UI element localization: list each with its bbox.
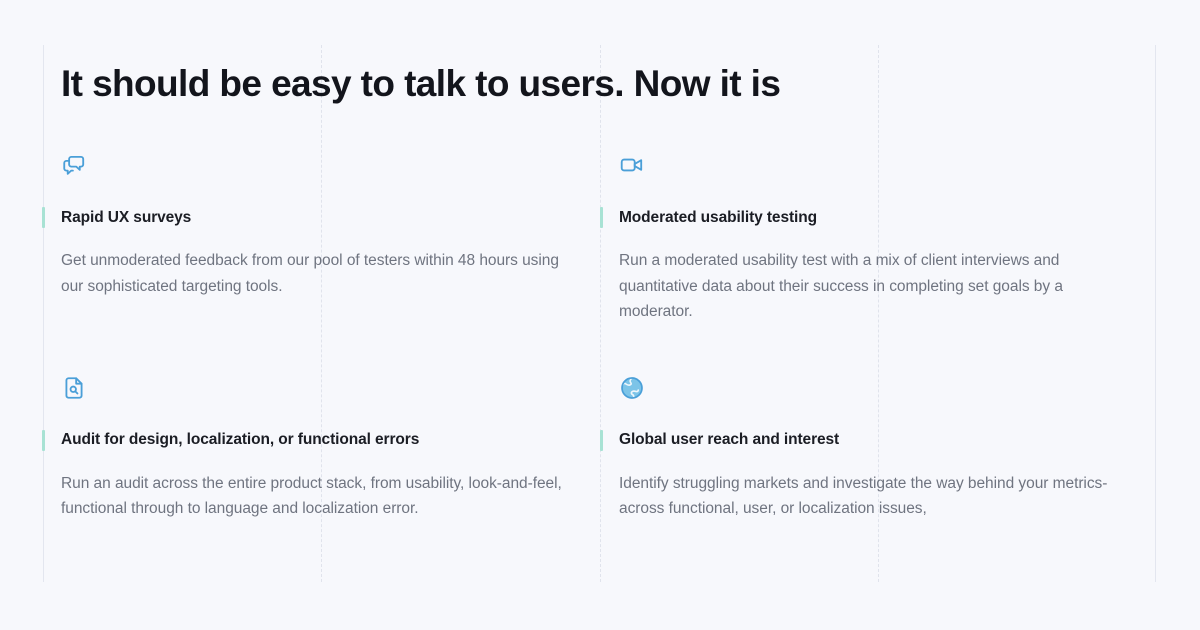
panel-right-border	[1155, 45, 1156, 582]
feature-card-rapid-ux-surveys: Rapid UX surveys Get unmoderated feedbac…	[61, 152, 619, 325]
feature-title-row: Audit for design, localization, or funct…	[61, 429, 589, 451]
accent-bar	[600, 207, 603, 228]
feature-card-global-reach: Global user reach and interest Identify …	[619, 375, 1141, 522]
content-container: It should be easy to talk to users. Now …	[61, 62, 1141, 522]
feature-description: Run an audit across the entire product s…	[61, 471, 571, 522]
accent-bar	[42, 207, 45, 228]
accent-bar	[42, 430, 45, 451]
file-search-icon	[61, 375, 87, 401]
feature-grid: Rapid UX surveys Get unmoderated feedbac…	[61, 152, 1141, 522]
feature-title: Audit for design, localization, or funct…	[61, 429, 419, 450]
feature-title-row: Rapid UX surveys	[61, 206, 589, 228]
chat-bubbles-icon	[61, 152, 87, 178]
feature-description: Run a moderated usability test with a mi…	[619, 248, 1111, 325]
video-camera-icon	[619, 152, 645, 178]
feature-title: Global user reach and interest	[619, 429, 839, 450]
feature-title-row: Global user reach and interest	[619, 429, 1111, 451]
feature-card-audit: Audit for design, localization, or funct…	[61, 375, 619, 522]
feature-title-row: Moderated usability testing	[619, 206, 1111, 228]
page-title: It should be easy to talk to users. Now …	[61, 62, 1141, 106]
feature-title: Moderated usability testing	[619, 207, 817, 228]
globe-icon	[619, 375, 645, 401]
feature-title: Rapid UX surveys	[61, 207, 191, 228]
feature-description: Get unmoderated feedback from our pool o…	[61, 248, 571, 299]
feature-description: Identify struggling markets and investig…	[619, 471, 1111, 522]
panel-left-border	[43, 45, 44, 582]
accent-bar	[600, 430, 603, 451]
marketing-features-section: It should be easy to talk to users. Now …	[0, 0, 1200, 630]
feature-card-moderated-usability-testing: Moderated usability testing Run a modera…	[619, 152, 1141, 325]
